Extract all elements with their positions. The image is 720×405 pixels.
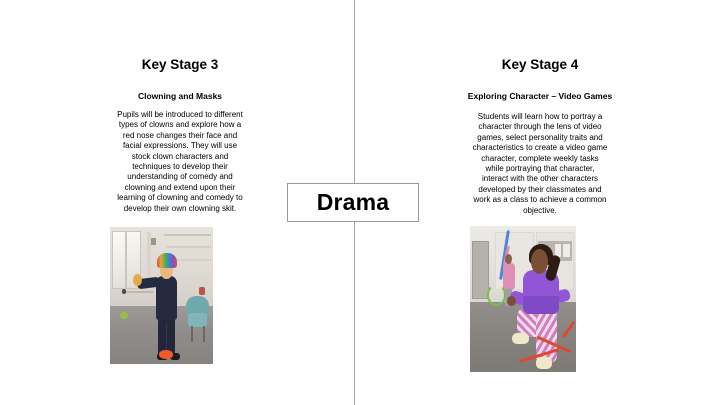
student-hand-prop	[133, 274, 142, 286]
column-key-stage-3: Key Stage 3 Clowning and Masks Pupils wi…	[30, 0, 330, 405]
student-left-hand	[507, 296, 515, 306]
subject-box: Drama	[287, 183, 419, 222]
key-stage-3-topic-heading: Clowning and Masks	[30, 91, 330, 101]
photo-video-game-character	[470, 226, 576, 372]
wall-shelf-top	[164, 234, 211, 237]
background-student-top	[503, 263, 515, 291]
key-stage-3-description: Pupils will be introduced to different t…	[30, 110, 330, 214]
red-prop-on-shelf	[199, 287, 205, 295]
photo-clowning-scene	[110, 227, 213, 364]
wall-box	[151, 238, 156, 245]
subject-label: Drama	[317, 191, 390, 214]
orange-floor-marker	[159, 350, 172, 358]
student-trainer-left	[512, 333, 529, 345]
rainbow-clown-wig	[157, 253, 177, 268]
green-ball-prop	[120, 312, 127, 319]
teal-chair-leg-right	[203, 326, 205, 342]
student-trainer-right	[536, 357, 552, 369]
wall-poster-two	[563, 244, 569, 257]
studio-door	[472, 241, 489, 299]
key-stage-4-topic-heading: Exploring Character – Video Games	[390, 91, 690, 101]
key-stage-3-heading: Key Stage 3	[30, 57, 330, 72]
slide-canvas: Key Stage 3 Clowning and Masks Pupils wi…	[0, 0, 720, 405]
wall-shelf-middle	[167, 246, 211, 248]
wall-rail	[124, 291, 153, 293]
key-stage-4-description: Students will learn how to portray a cha…	[390, 112, 690, 216]
key-stage-4-heading: Key Stage 4	[390, 57, 690, 72]
column-key-stage-4: Key Stage 4 Exploring Character – Video …	[390, 0, 690, 405]
window-mullion	[125, 231, 127, 289]
photo-video-game-scene	[470, 226, 576, 372]
photo-clowning-classroom	[110, 227, 213, 364]
teal-chair-leg-left	[191, 326, 193, 342]
purple-hoodie-hem	[523, 296, 559, 314]
